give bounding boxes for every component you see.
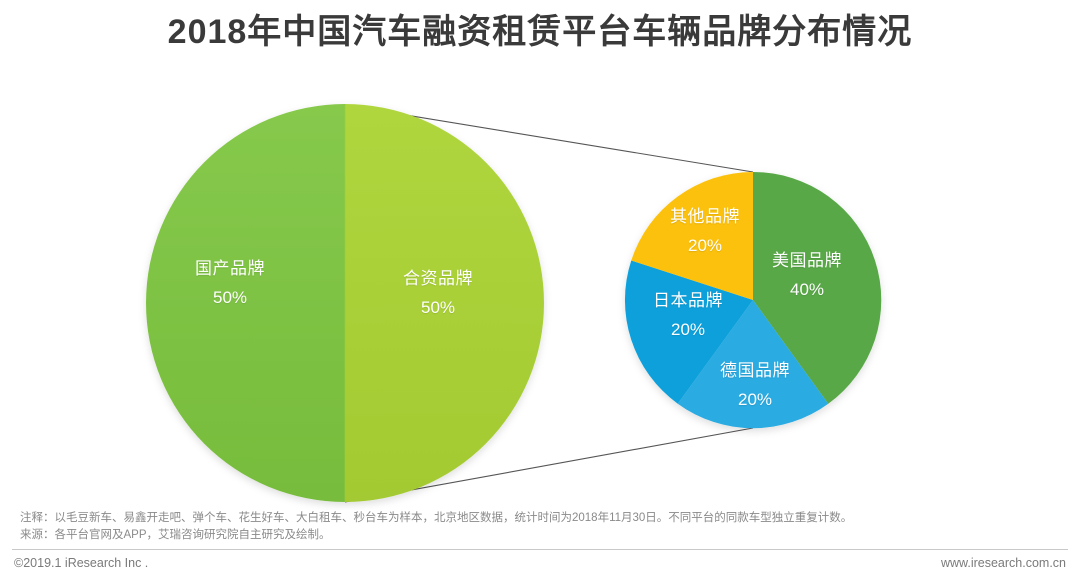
footnote-note: 注释：以毛豆新车、易鑫开走吧、弹个车、花生好车、大白租车、秒台车为样本，北京地区… [20,510,1065,527]
footnotes: 注释：以毛豆新车、易鑫开走吧、弹个车、花生好车、大白租车、秒台车为样本，北京地区… [20,510,1065,544]
breakdown-pie [625,172,881,428]
website-link[interactable]: www.iresearch.com.cn [941,556,1066,570]
footnote-source: 来源：各平台官网及APP，艾瑞咨询研究院自主研究及绘制。 [20,527,1065,544]
pie-slice-domestic[interactable] [146,104,345,502]
copyright-text: ©2019.1 iResearch Inc . [14,556,148,570]
pie-chart-canvas [0,70,1080,510]
overview-pie [146,104,544,502]
pie-slice-joint-venture[interactable] [345,104,544,502]
footer-divider [12,549,1068,550]
page-title: 2018年中国汽车融资租赁平台车辆品牌分布情况 [0,8,1080,56]
chart-page: 2018年中国汽车融资租赁平台车辆品牌分布情况 [0,0,1080,582]
